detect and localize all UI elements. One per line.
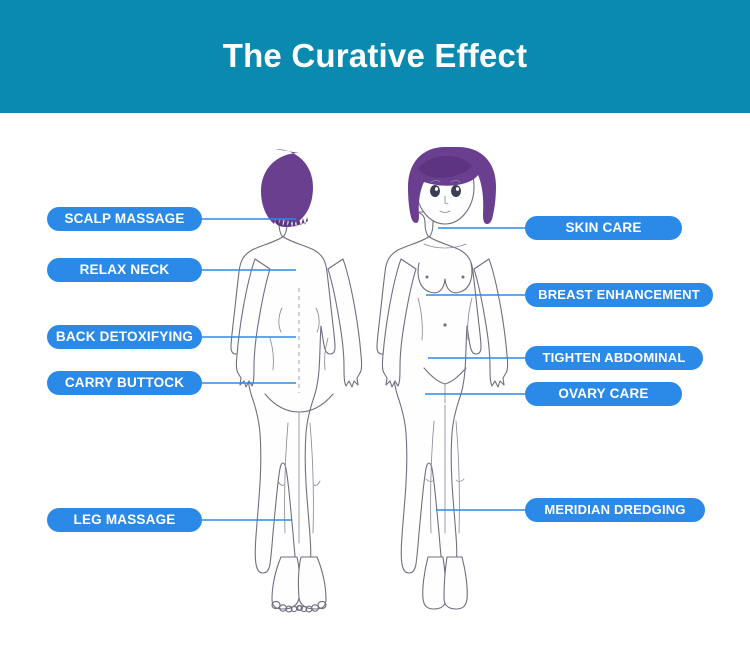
- knee-left: [426, 479, 434, 481]
- label-ovary-care[interactable]: OVARY CARE: [525, 382, 682, 406]
- label-leg-massage[interactable]: LEG MASSAGE: [47, 508, 202, 532]
- label-carry-buttock[interactable]: CARRY BUTTOCK: [47, 371, 202, 395]
- back-view-figure: [231, 149, 362, 612]
- label-breast-enhancement[interactable]: BREAST ENHANCEMENT: [525, 283, 713, 307]
- page-title: The Curative Effect: [0, 34, 750, 78]
- label-relax-neck[interactable]: RELAX NECK: [47, 258, 202, 282]
- label-meridian-dredging[interactable]: MERIDIAN DREDGING: [525, 498, 705, 522]
- knee-right: [456, 479, 464, 481]
- curative-effect-infographic: The Curative Effect .ol { fill:none; str…: [0, 0, 750, 646]
- label-scalp-massage[interactable]: SCALP MASSAGE: [47, 207, 202, 231]
- label-back-detoxifying[interactable]: BACK DETOXIFYING: [47, 325, 202, 349]
- front-view-figure: [377, 147, 508, 609]
- label-tighten-abdominal[interactable]: TIGHTEN ABDOMINAL: [525, 346, 703, 370]
- label-skin-care[interactable]: SKIN CARE: [525, 216, 682, 240]
- navel: [443, 323, 446, 326]
- header-banner: The Curative Effect: [0, 0, 750, 113]
